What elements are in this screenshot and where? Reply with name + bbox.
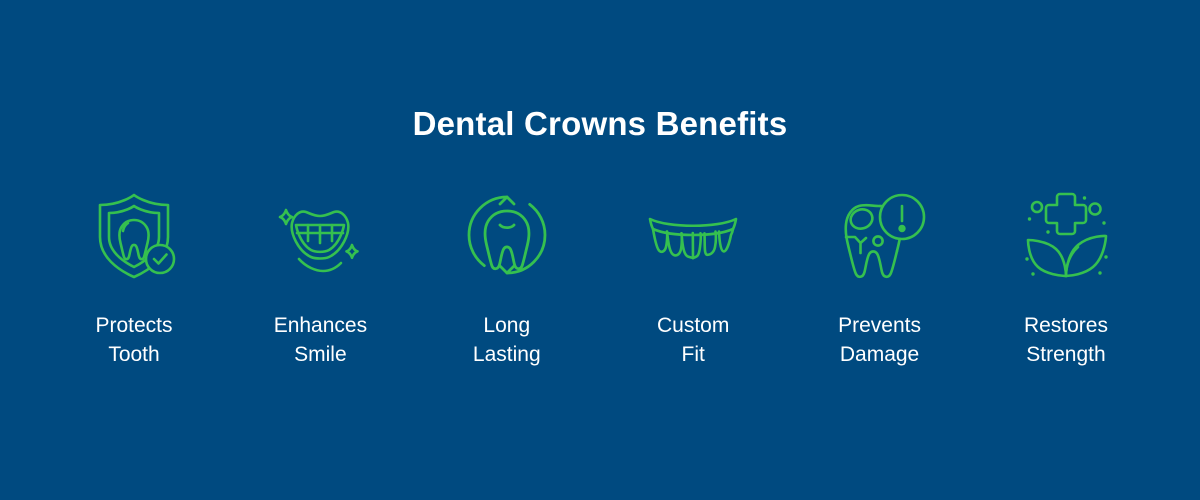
benefit-label: Long Lasting (473, 311, 541, 369)
benefit-item-protects-tooth: Protects Tooth (41, 185, 227, 369)
smiling-mouth-sparkle-icon (270, 185, 370, 285)
infographic-canvas: Dental Crowns Benefits Protects Tooth (0, 0, 1200, 500)
page-title: Dental Crowns Benefits (0, 104, 1200, 144)
benefits-row: Protects Tooth Enhances Smile (41, 185, 1159, 369)
shield-tooth-check-icon (84, 185, 184, 285)
benefit-label: Custom Fit (657, 311, 729, 369)
benefit-label: Protects Tooth (95, 311, 172, 369)
dental-arch-teeth-icon (643, 185, 743, 285)
benefit-item-custom-fit: Custom Fit (600, 185, 786, 369)
tooth-refresh-cycle-icon (457, 185, 557, 285)
damaged-tooth-warning-icon (830, 185, 930, 285)
benefit-item-prevents-damage: Prevents Damage (787, 185, 973, 369)
benefit-label: Restores Strength (1024, 311, 1108, 369)
benefit-item-restores-strength: Restores Strength (973, 185, 1159, 369)
leaves-medical-cross-icon (1016, 185, 1116, 285)
benefit-label: Prevents Damage (838, 311, 921, 369)
benefit-label: Enhances Smile (274, 311, 367, 369)
benefit-item-enhances-smile: Enhances Smile (227, 185, 413, 369)
benefit-item-long-lasting: Long Lasting (414, 185, 600, 369)
